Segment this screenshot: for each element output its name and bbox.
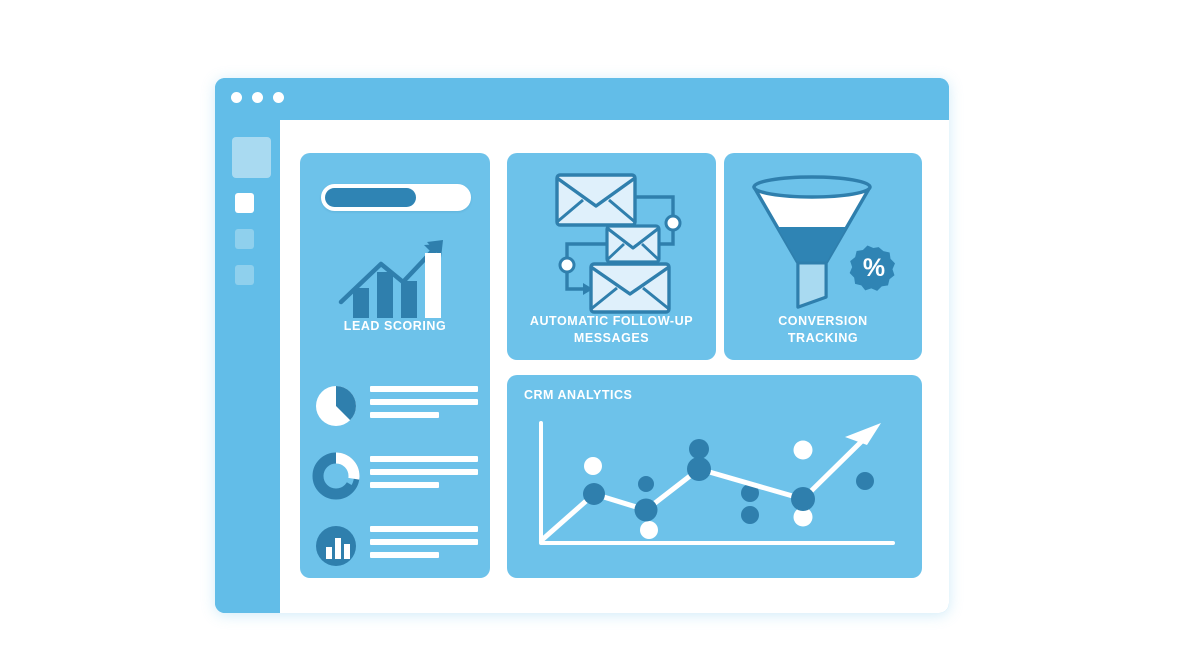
sidebar xyxy=(215,120,271,613)
funnel-icon xyxy=(742,177,912,317)
data-point xyxy=(635,499,658,522)
envelope-icon-2 xyxy=(607,226,659,262)
scatter-dot xyxy=(856,472,874,490)
conversion-label-line-1: CONVERSION xyxy=(778,314,868,328)
pie-chart-icon xyxy=(312,382,360,430)
text-line xyxy=(370,526,478,532)
crm-analytics-line-chart xyxy=(515,411,915,571)
scatter-dot xyxy=(640,521,658,539)
funnel-spout xyxy=(798,263,826,307)
list-item-lines xyxy=(370,386,478,425)
card-automatic-follow-up[interactable]: AUTOMATIC FOLLOW-UP MESSAGES xyxy=(507,153,716,360)
text-line xyxy=(370,469,478,475)
flow-node-2 xyxy=(560,258,574,272)
text-line xyxy=(370,386,478,392)
sidebar-item-active[interactable] xyxy=(232,137,271,178)
flow-connector-1 xyxy=(635,197,673,219)
data-point xyxy=(791,487,815,511)
scatter-dot xyxy=(741,506,759,524)
window-close-dot[interactable] xyxy=(231,92,242,103)
conversion-label-line-2: TRACKING xyxy=(788,331,858,345)
card-lead-scoring-label: LEAD SCORING xyxy=(300,318,490,335)
bar-chart-icon xyxy=(312,522,360,570)
traffic-light-dots xyxy=(231,92,284,103)
text-line xyxy=(370,539,478,545)
card-conversion-tracking[interactable]: % CONVERSION TRACKING xyxy=(724,153,922,360)
conversion-funnel-graphic: % xyxy=(742,165,912,315)
dashboard-grid: LEAD SCORING xyxy=(300,153,929,578)
text-line xyxy=(370,482,439,488)
text-line xyxy=(370,552,439,558)
lead-score-progress-bar[interactable] xyxy=(321,184,471,211)
bar-1 xyxy=(353,288,369,318)
lead-scoring-bar-chart xyxy=(335,228,455,320)
text-line xyxy=(370,399,478,405)
scatter-dot xyxy=(794,441,813,460)
card-lead-scoring[interactable]: LEAD SCORING xyxy=(300,153,490,578)
app-screenshot: LEAD SCORING xyxy=(0,0,1200,670)
text-line xyxy=(370,412,439,418)
bar-2 xyxy=(377,272,393,318)
window-titlebar xyxy=(215,78,949,120)
chart-axes xyxy=(541,423,893,543)
bar-3 xyxy=(401,281,417,318)
sidebar-item-1[interactable] xyxy=(235,193,254,213)
donut-chart-icon xyxy=(312,452,360,500)
crm-analytics-title: CRM ANALYTICS xyxy=(524,388,632,402)
scatter-dot xyxy=(638,476,654,492)
percent-badge-icon: % xyxy=(845,242,900,296)
list-item[interactable] xyxy=(312,449,478,507)
scatter-dot xyxy=(584,457,602,475)
bar-4 xyxy=(425,253,441,318)
list-item[interactable] xyxy=(312,379,478,437)
flow-node-1 xyxy=(666,216,680,230)
scatter-dot xyxy=(689,439,709,459)
browser-window: LEAD SCORING xyxy=(215,78,949,613)
data-point xyxy=(687,457,711,481)
data-point xyxy=(583,483,605,505)
follow-up-label-line-1: AUTOMATIC FOLLOW-UP xyxy=(530,314,693,328)
card-follow-up-label: AUTOMATIC FOLLOW-UP MESSAGES xyxy=(507,313,716,347)
card-crm-analytics[interactable]: CRM ANALYTICS xyxy=(507,375,922,578)
list-item-lines xyxy=(370,456,478,495)
list-item[interactable] xyxy=(312,519,478,577)
follow-up-label-line-2: MESSAGES xyxy=(574,331,649,345)
percent-symbol: % xyxy=(863,254,885,282)
lead-score-progress-fill xyxy=(325,188,416,207)
flow-connector-3 xyxy=(567,244,607,261)
trend-arrowhead xyxy=(845,423,881,445)
follow-up-flow-diagram xyxy=(523,169,703,314)
window-minimize-dot[interactable] xyxy=(252,92,263,103)
card-conversion-label: CONVERSION TRACKING xyxy=(724,313,922,347)
envelope-icon-1 xyxy=(557,175,635,225)
list-item-lines xyxy=(370,526,478,565)
sidebar-item-2[interactable] xyxy=(235,229,254,249)
envelope-icon-3 xyxy=(591,264,669,312)
window-maximize-dot[interactable] xyxy=(273,92,284,103)
sidebar-item-3[interactable] xyxy=(235,265,254,285)
text-line xyxy=(370,456,478,462)
content-canvas: LEAD SCORING xyxy=(280,120,949,613)
